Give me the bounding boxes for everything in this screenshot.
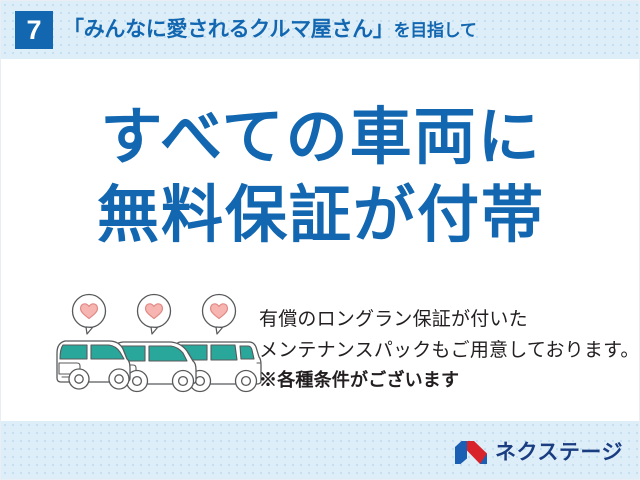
heart-bubble-1 (73, 295, 106, 335)
brand-logo: ネクステージ (454, 438, 623, 466)
body-line-1: 有償のロングラン保証が付いた (259, 304, 635, 335)
header-title-suffix: を目指して (394, 21, 477, 40)
heart-bubble-2 (138, 295, 171, 335)
body-copy: 有償のロングラン保証が付いた メンテナンスパックもご用意しております。 ※各種条… (259, 304, 635, 395)
body-line-3-note: ※各種条件がございます (259, 366, 635, 395)
nextage-n-mark-icon (454, 440, 488, 465)
body-line-2: メンテナンスパックもご用意しております。 (259, 335, 635, 366)
car-box-wagon (57, 341, 130, 389)
three-cars-illustration (53, 293, 265, 401)
header-title: 「みんなに愛されるクルマ屋さん」を目指して (63, 14, 477, 46)
headline-line-1: すべての車両に (1, 99, 640, 177)
promo-banner: 7 「みんなに愛されるクルマ屋さん」を目指して すべての車両に 無料保証が付帯 (0, 0, 640, 480)
headline-line-2: 無料保証が付帯 (1, 177, 640, 255)
header-title-quote: 「みんなに愛されるクルマ屋さん」 (63, 18, 394, 41)
section-number-badge: 7 (15, 11, 53, 49)
heart-bubble-3 (203, 295, 236, 335)
headline: すべての車両に 無料保証が付帯 (1, 99, 640, 255)
brand-logo-text: ネクステージ (495, 440, 623, 465)
